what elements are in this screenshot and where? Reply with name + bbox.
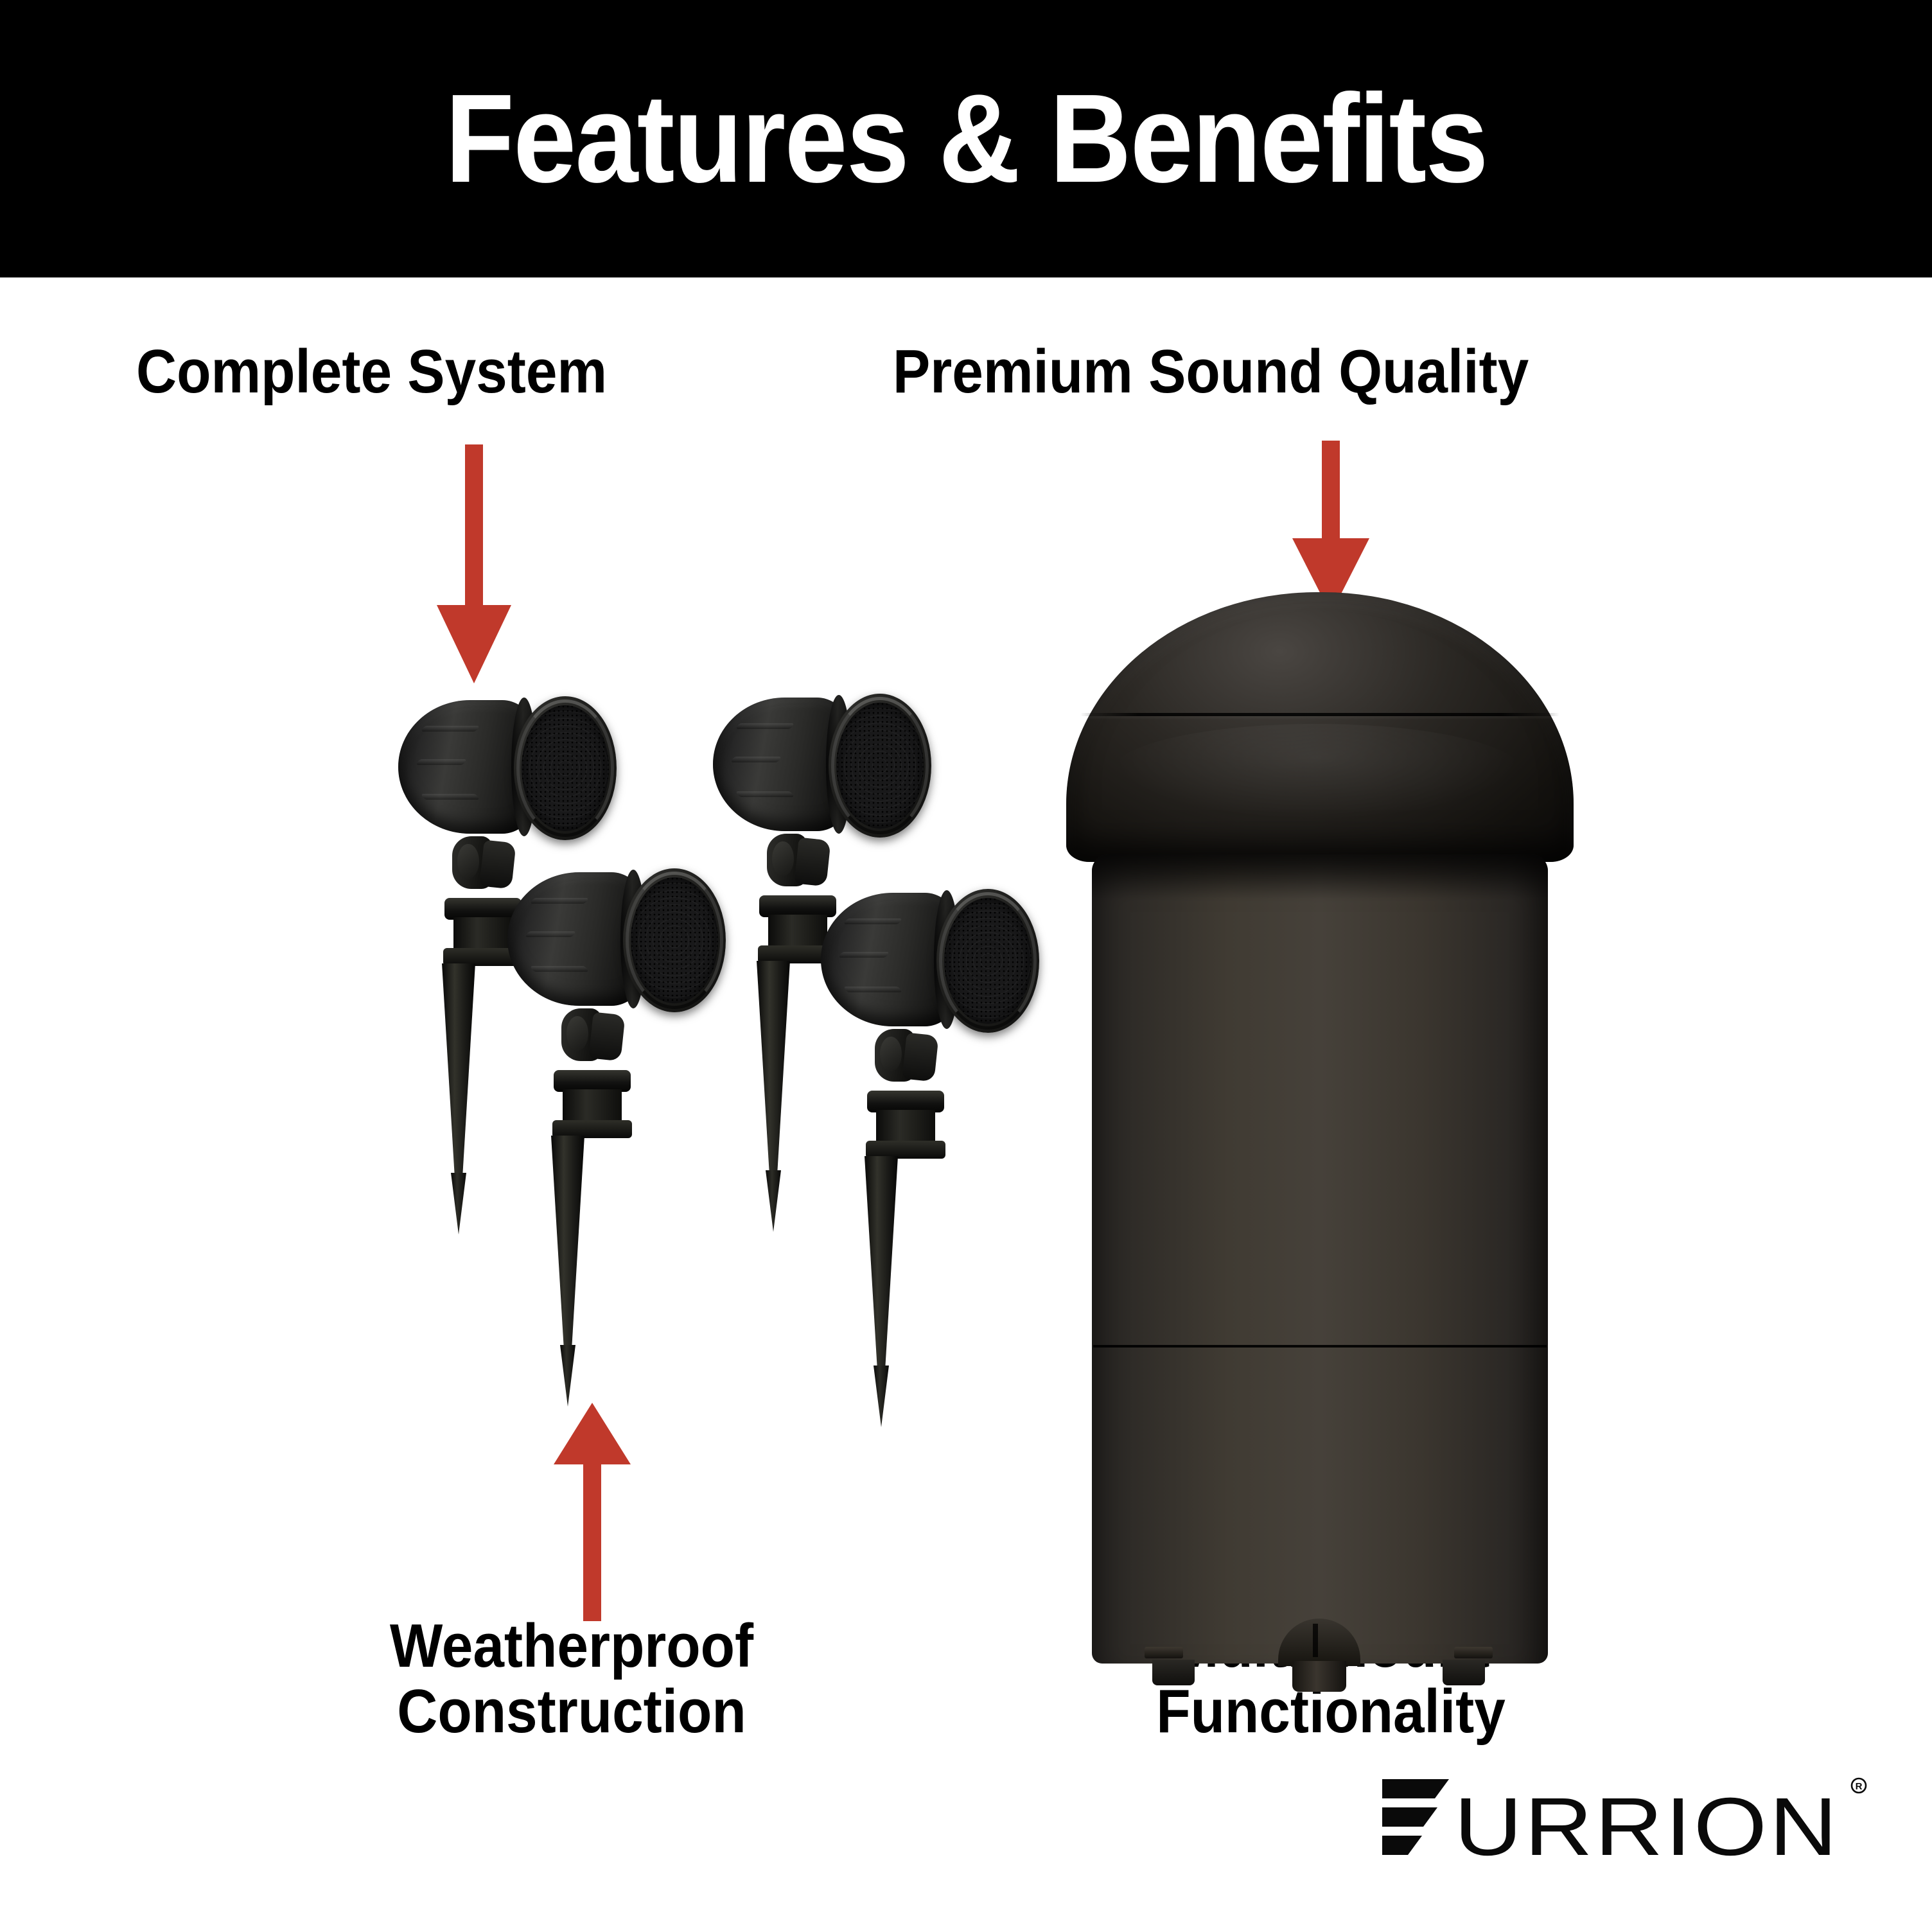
spike-tip xyxy=(560,1345,575,1407)
subwoofer-unit xyxy=(1066,592,1574,1742)
subwoofer-foot xyxy=(1443,1660,1485,1685)
speaker-rib xyxy=(421,726,480,732)
speaker-face-3 xyxy=(623,868,726,1012)
subwoofer-dome-cap xyxy=(1066,592,1574,862)
speaker-rib xyxy=(530,966,589,972)
speaker-swivel-arm xyxy=(794,838,830,887)
speaker-head-2 xyxy=(713,694,931,838)
speaker-rib xyxy=(416,759,467,765)
speaker-face-4 xyxy=(936,889,1039,1033)
speaker-rib xyxy=(843,987,902,992)
speaker-swivel-arm xyxy=(588,1012,625,1062)
speaker-head-3 xyxy=(507,868,726,1012)
product-stage xyxy=(0,277,1932,1932)
subwoofer-body-seam xyxy=(1093,1345,1547,1348)
furrion-wordmark: URRION xyxy=(1454,1781,1840,1860)
speaker-face-2 xyxy=(829,694,931,838)
speaker-bezel-2 xyxy=(831,697,929,834)
spike-tip xyxy=(766,1170,781,1232)
speaker-yoke-4 xyxy=(875,1025,936,1097)
speaker-yoke-2 xyxy=(767,830,829,902)
speaker-collar xyxy=(554,1070,631,1092)
subwoofer-base-notch xyxy=(1145,1647,1183,1658)
spike-shaft xyxy=(757,961,790,1173)
speaker-rib xyxy=(525,931,576,937)
subwoofer-body-shadow xyxy=(1092,854,1548,899)
infographic-page: Features & Benefits Complete System Prem… xyxy=(0,0,1932,1932)
speaker-face-1 xyxy=(514,696,617,840)
subwoofer-cap-sheen xyxy=(1111,724,1522,820)
subwoofer-body xyxy=(1092,854,1548,1664)
speaker-bezel-1 xyxy=(516,699,614,837)
subwoofer-mount-stem xyxy=(1292,1661,1346,1692)
speaker-collar xyxy=(867,1091,944,1112)
speaker-collar-mid xyxy=(453,917,513,951)
speaker-rib xyxy=(730,757,782,762)
speaker-rib xyxy=(530,898,589,904)
subwoofer-cap-seam xyxy=(1080,713,1559,716)
speaker-rib xyxy=(843,918,902,924)
svg-text:URRION: URRION xyxy=(1454,1781,1840,1860)
spike-shaft xyxy=(551,1136,584,1348)
speaker-swivel-arm xyxy=(902,1033,938,1082)
speaker-bezel-3 xyxy=(626,872,723,1009)
speaker-rib xyxy=(735,723,795,729)
spike-tip xyxy=(874,1366,889,1427)
speaker-collar-base xyxy=(866,1141,945,1159)
spike-shaft xyxy=(442,963,475,1175)
speaker-rib xyxy=(421,794,480,800)
spike-tip xyxy=(451,1173,466,1234)
page-title: Features & Benefits xyxy=(445,76,1487,202)
subwoofer-base-notch xyxy=(1454,1647,1493,1658)
speaker-head-4 xyxy=(821,889,1039,1033)
spike-shaft xyxy=(865,1156,898,1368)
speaker-yoke-3 xyxy=(561,1005,623,1076)
header-banner: Features & Benefits xyxy=(0,0,1932,277)
speaker-rib xyxy=(735,791,795,797)
furrion-logo: URRION R xyxy=(1382,1777,1870,1860)
furrion-f-glyph xyxy=(1382,1779,1449,1855)
registered-trademark-icon: R xyxy=(1852,1778,1866,1793)
speaker-yoke-1 xyxy=(452,832,514,904)
speaker-collar-mid xyxy=(876,1110,935,1143)
speaker-bezel-4 xyxy=(939,892,1037,1030)
speaker-collar-mid xyxy=(768,915,827,948)
speaker-rib xyxy=(838,952,890,958)
svg-text:R: R xyxy=(1856,1781,1863,1792)
speaker-collar-mid xyxy=(563,1089,622,1123)
speaker-collar-base xyxy=(552,1120,632,1138)
subwoofer-foot xyxy=(1152,1660,1195,1685)
speaker-head-1 xyxy=(398,696,617,840)
